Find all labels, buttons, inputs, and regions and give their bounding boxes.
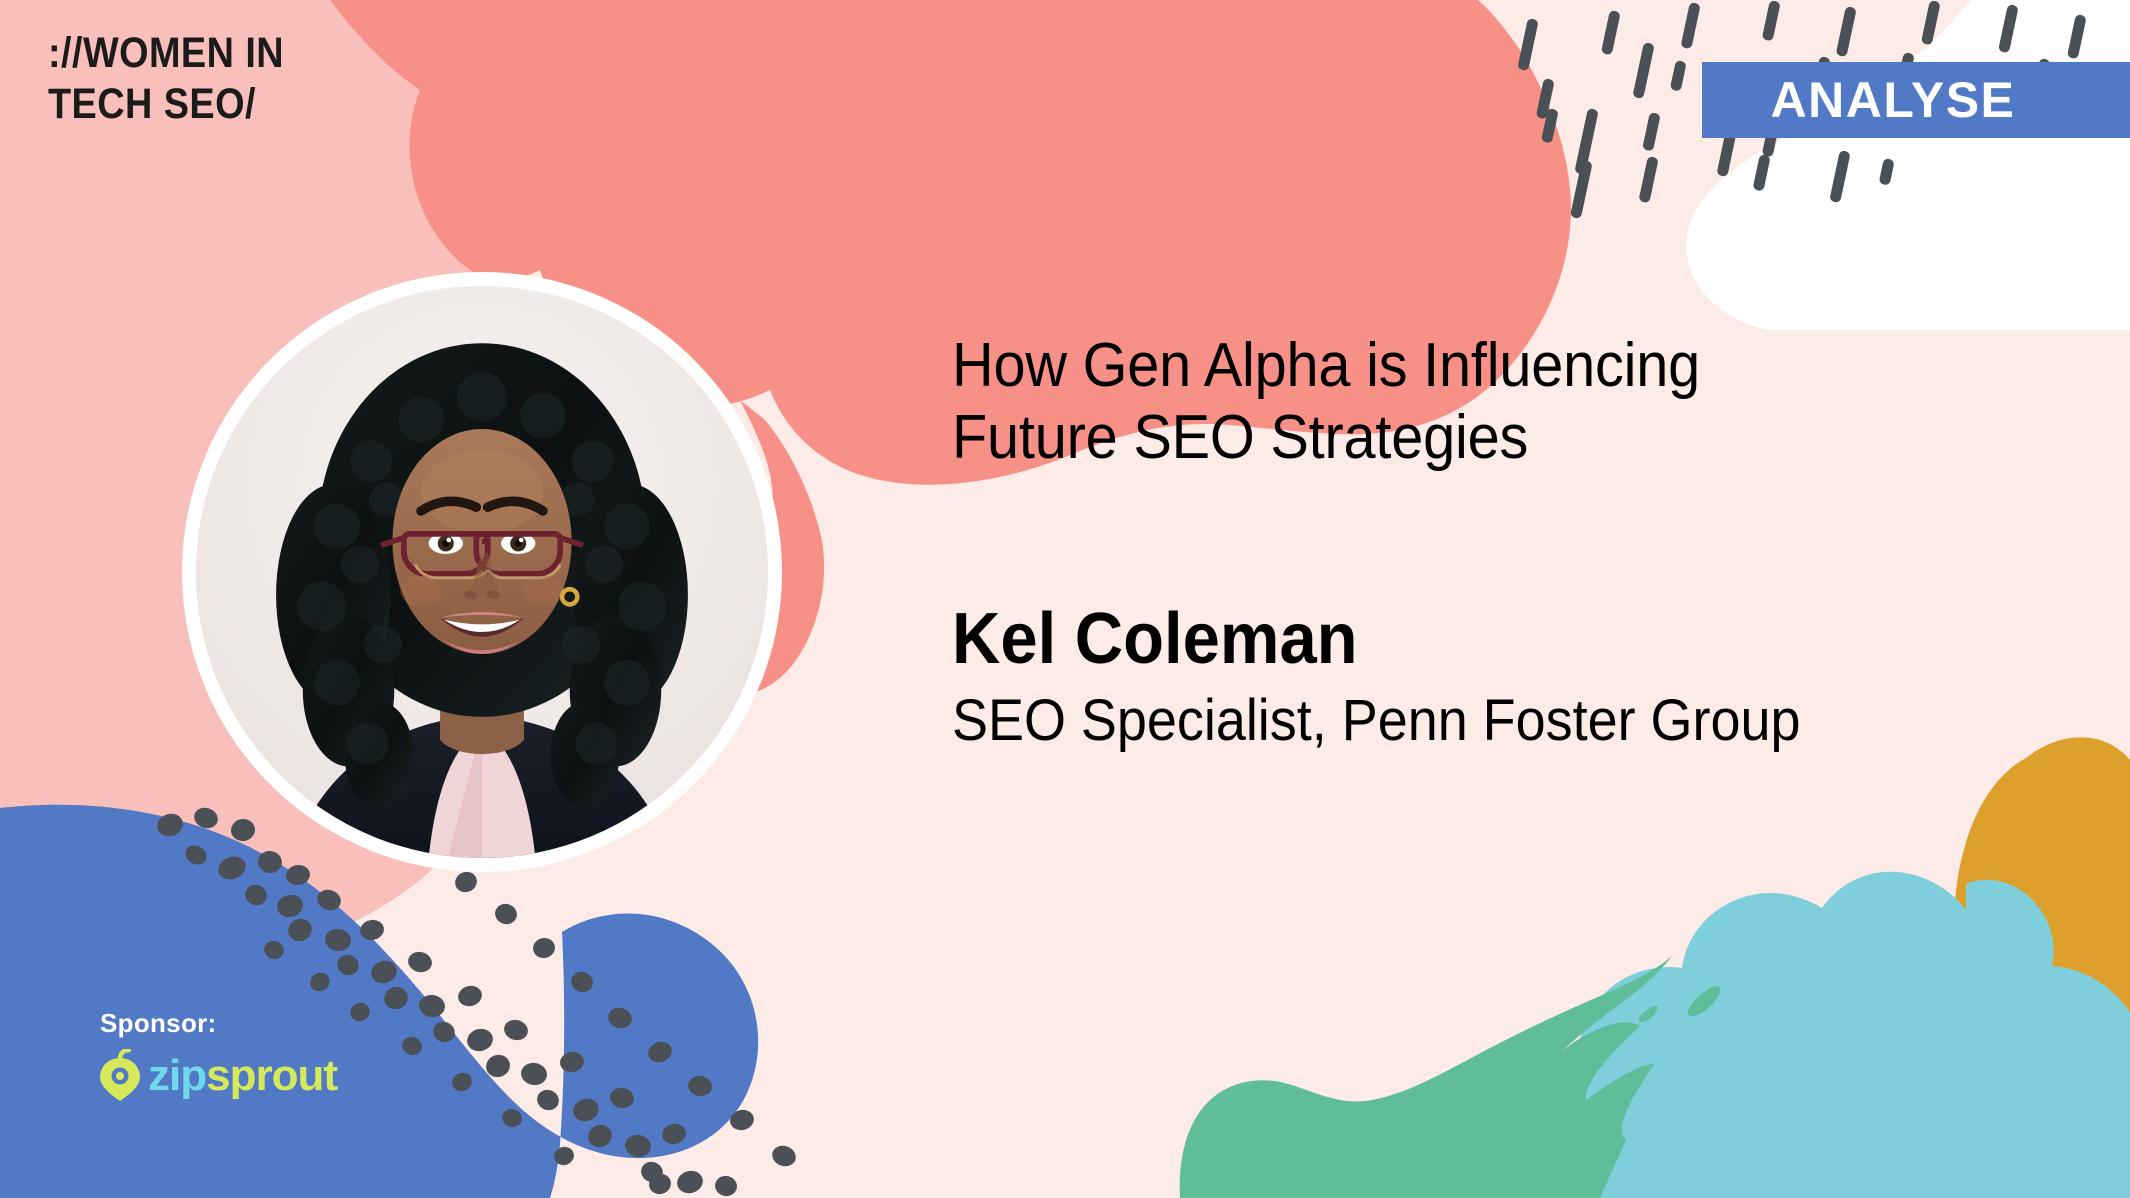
analyse-badge: ANALYSE <box>1702 62 2130 138</box>
sponsor-logo-zip: zip <box>148 1051 206 1100</box>
analyse-badge-label: ANALYSE <box>1771 71 2064 129</box>
sponsor-label: Sponsor: <box>98 1008 337 1039</box>
sponsor-block: Sponsor: zipsprout <box>98 1008 337 1103</box>
sponsor-logo-sprout: sprout <box>206 1051 337 1100</box>
speaker-headshot-photo <box>196 286 768 858</box>
talk-info: How Gen Alpha is Influencing Future SEO … <box>952 330 1972 753</box>
sprout-pin-icon <box>98 1049 144 1103</box>
speaker-slide: ://WOMEN IN TECH SEO/ ANALYSE <box>0 0 2130 1198</box>
logo-line-1: ://WOMEN IN <box>48 28 284 79</box>
sponsor-logo-wordmark: zipsprout <box>148 1054 337 1098</box>
sponsor-logo: zipsprout <box>98 1049 337 1103</box>
wtsh-logo: ://WOMEN IN TECH SEO/ <box>48 28 316 129</box>
logo-line-2: TECH SEO/ <box>48 79 284 130</box>
avatar <box>182 272 782 872</box>
speaker-role: SEO Specialist, Penn Foster Group <box>952 689 1901 753</box>
talk-title: How Gen Alpha is Influencing Future SEO … <box>952 330 1901 474</box>
speaker-name: Kel Coleman <box>952 602 1901 678</box>
